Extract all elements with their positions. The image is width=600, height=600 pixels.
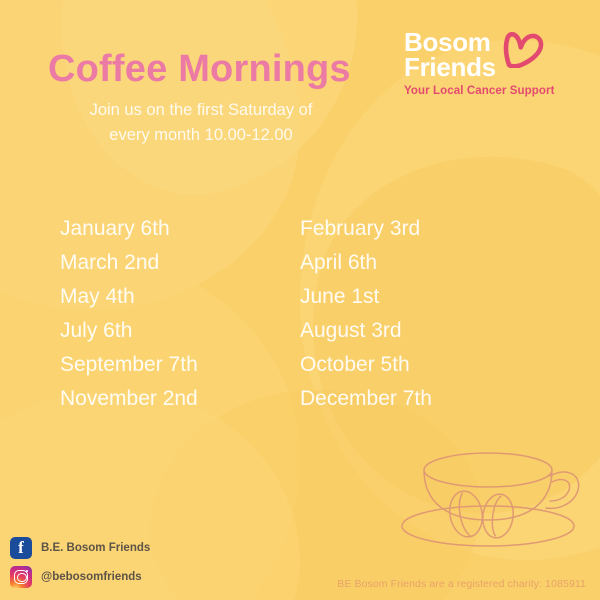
social-facebook-row[interactable]: B.E. Bosom Friends bbox=[10, 534, 150, 561]
logo-tagline: Your Local Cancer Support bbox=[404, 85, 584, 97]
subtitle-line-2: every month 10.00-12.00 bbox=[48, 123, 354, 148]
coffee-cup-icon bbox=[392, 426, 592, 556]
instagram-lens bbox=[17, 573, 27, 583]
facebook-label: B.E. Bosom Friends bbox=[41, 542, 150, 554]
list-item: April 6th bbox=[300, 246, 540, 280]
list-item: May 4th bbox=[60, 280, 300, 314]
facebook-icon[interactable] bbox=[10, 537, 32, 559]
list-item: December 7th bbox=[300, 382, 540, 416]
page-title: Coffee Mornings bbox=[48, 48, 351, 91]
charity-registration-text: BE Bosom Friends are a registered charit… bbox=[337, 578, 586, 590]
list-item: October 5th bbox=[300, 348, 540, 382]
list-item: November 2nd bbox=[60, 382, 300, 416]
subtitle-line-1: Join us on the first Saturday of bbox=[48, 98, 354, 123]
list-item: August 3rd bbox=[300, 314, 540, 348]
list-item: March 2nd bbox=[60, 246, 300, 280]
logo-wordmark: Bosom Friends bbox=[404, 30, 496, 80]
instagram-label: @bebosomfriends bbox=[41, 571, 142, 583]
list-item: July 6th bbox=[60, 314, 300, 348]
logo-name-row: Bosom Friends bbox=[404, 30, 584, 80]
list-item: January 6th bbox=[60, 212, 300, 246]
dates-left-column: January 6th March 2nd May 4th July 6th S… bbox=[60, 212, 300, 416]
dates-list: January 6th March 2nd May 4th July 6th S… bbox=[60, 212, 540, 416]
list-item: February 3rd bbox=[300, 212, 540, 246]
list-item: June 1st bbox=[300, 280, 540, 314]
list-item: September 7th bbox=[60, 348, 300, 382]
logo-word-line-2: Friends bbox=[404, 55, 496, 80]
instagram-icon[interactable] bbox=[10, 566, 32, 588]
social-instagram-row[interactable]: @bebosomfriends bbox=[10, 563, 150, 590]
poster-canvas: Coffee Mornings Join us on the first Sat… bbox=[0, 0, 600, 600]
social-links: B.E. Bosom Friends @bebosomfriends bbox=[10, 534, 150, 592]
heart-icon bbox=[500, 32, 544, 73]
brand-logo: Bosom Friends Your Local Cancer Support bbox=[404, 30, 584, 97]
instagram-dot bbox=[26, 570, 28, 572]
subtitle: Join us on the first Saturday of every m… bbox=[48, 98, 354, 148]
dates-right-column: February 3rd April 6th June 1st August 3… bbox=[300, 212, 540, 416]
